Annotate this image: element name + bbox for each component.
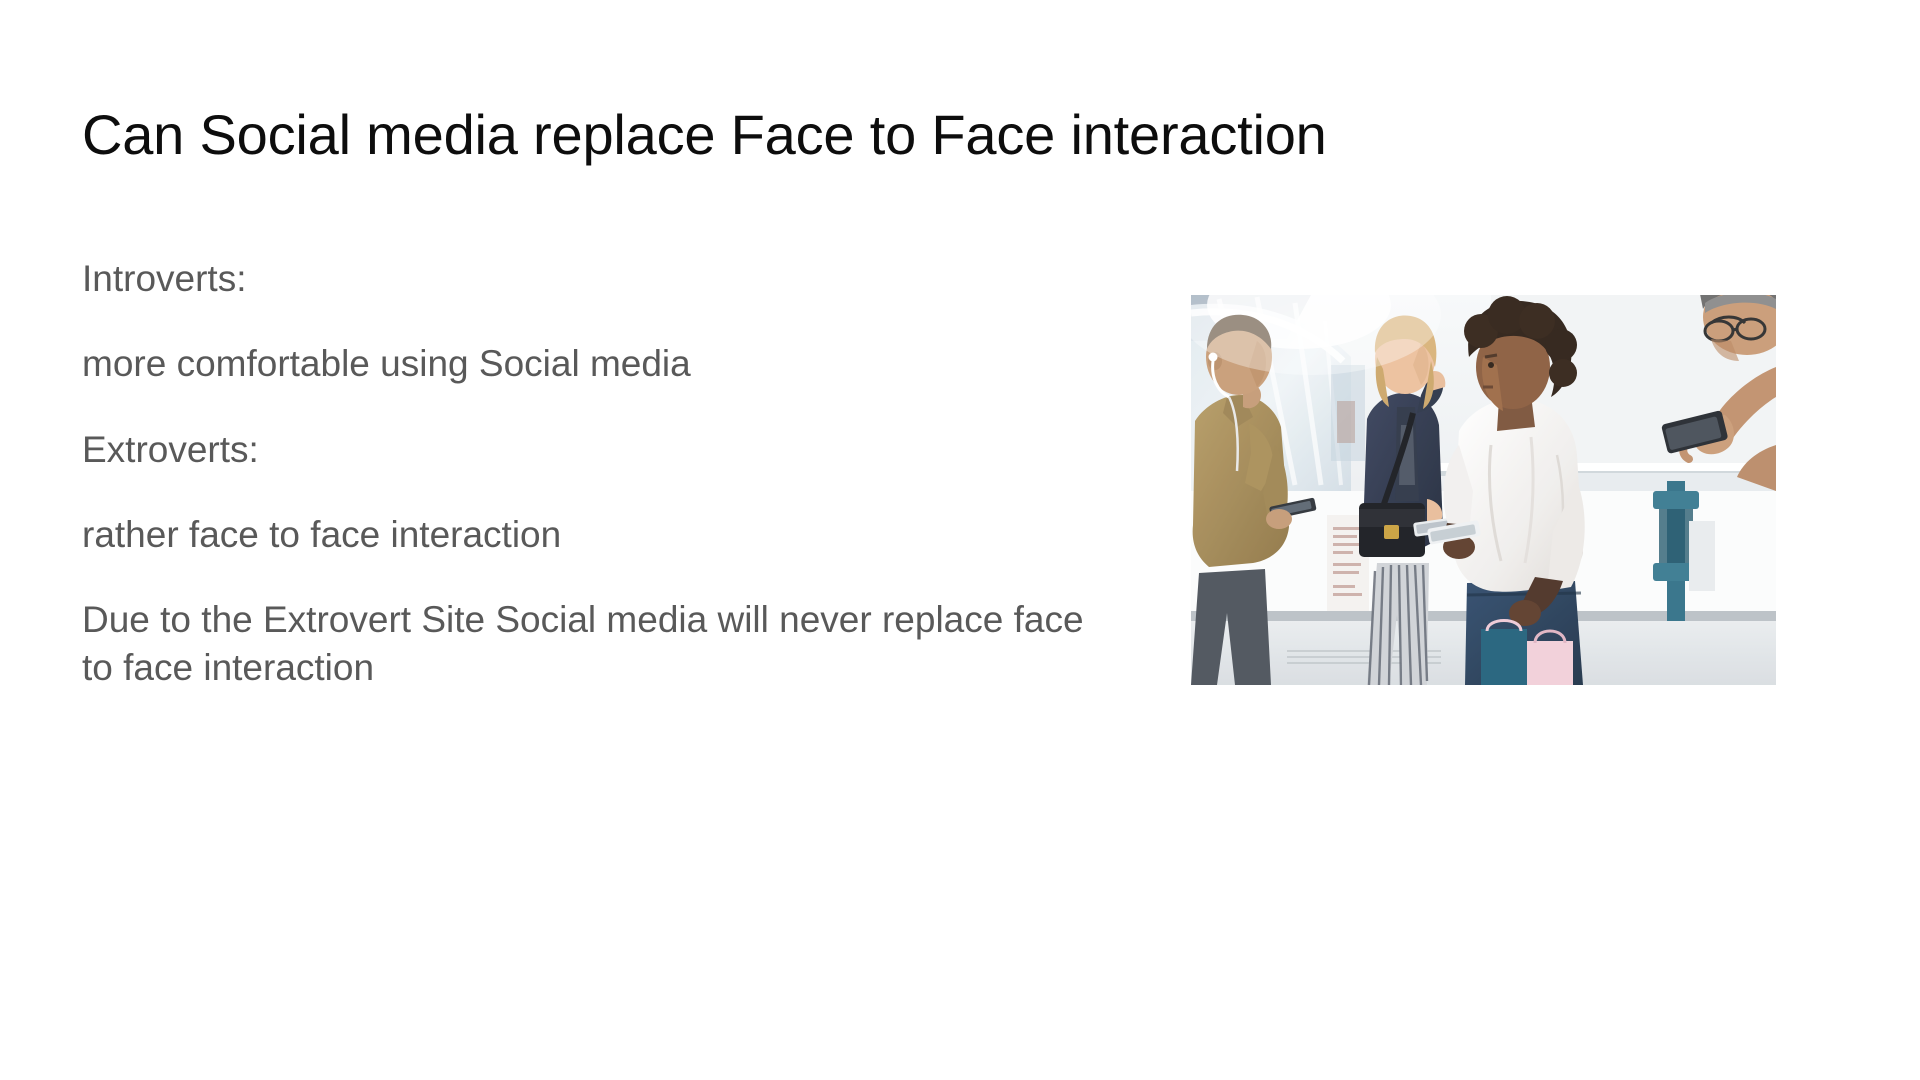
body-line-introverts-label: Introverts: [82,255,1142,302]
photo-artwork [1191,295,1776,685]
body-line-conclusion: Due to the Extrovert Site Social media w… [82,596,1122,691]
body-line-extroverts-label: Extroverts: [82,426,1142,473]
body-line-extroverts-detail: rather face to face interaction [82,511,1142,558]
slide-canvas: Can Social media replace Face to Face in… [0,0,1920,1080]
body-line-introverts-detail: more comfortable using Social media [82,340,1142,387]
body-text-block: Introverts: more comfortable using Socia… [82,255,1142,691]
page-title: Can Social media replace Face to Face in… [82,104,1782,166]
people-using-smartphones-photo [1191,295,1776,685]
